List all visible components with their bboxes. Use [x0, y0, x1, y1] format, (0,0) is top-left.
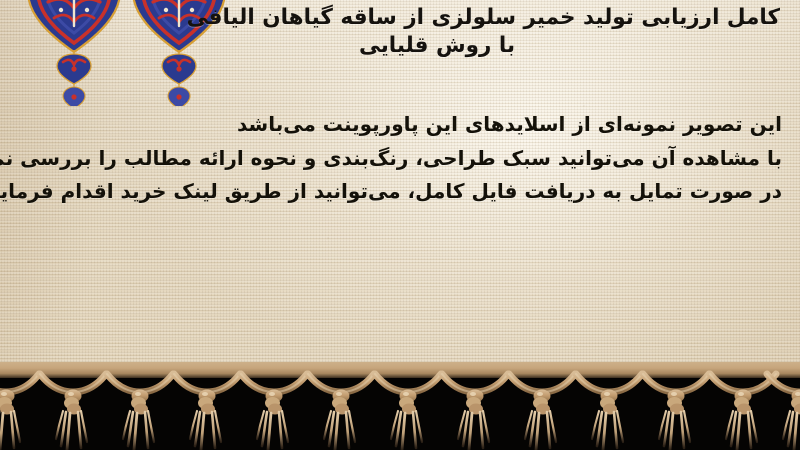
slide-title-line-2: با روش قلیایی: [166, 32, 786, 60]
tassel: [710, 374, 776, 450]
tassel: [0, 374, 39, 450]
body-line-2: با مشاهده آن می‌توانید سبک طراحی، رنگ‌بن…: [14, 142, 784, 176]
fringe-top-edge: [0, 362, 800, 378]
tassel: [643, 374, 709, 450]
tassel: [442, 374, 508, 450]
slide-body-text: این تصویر نمونه‌ای از اسلایدهای این پاور…: [14, 108, 784, 209]
tassel: [40, 374, 106, 450]
tassel-fringe-band: [0, 362, 800, 450]
tassel: [174, 374, 240, 450]
tassel: [767, 374, 800, 450]
knotted-tassel-fringe: [0, 368, 800, 450]
slide-canvas: کامل ارزیابی تولید خمیر سلولزی از ساقه گ…: [0, 0, 800, 450]
body-line-1: این تصویر نمونه‌ای از اسلایدهای این پاور…: [14, 108, 784, 142]
tassel: [576, 374, 642, 450]
slide-title: کامل ارزیابی تولید خمیر سلولزی از ساقه گ…: [166, 4, 786, 60]
tassel: [308, 374, 374, 450]
body-line-3: در صورت تمایل به دریافت فایل کامل، می‌تو…: [14, 175, 784, 209]
slide-title-line-1: کامل ارزیابی تولید خمیر سلولزی از ساقه گ…: [166, 4, 786, 32]
tassel: [107, 374, 173, 450]
tassel: [375, 374, 441, 450]
tassel: [241, 374, 307, 450]
tassel: [509, 374, 575, 450]
